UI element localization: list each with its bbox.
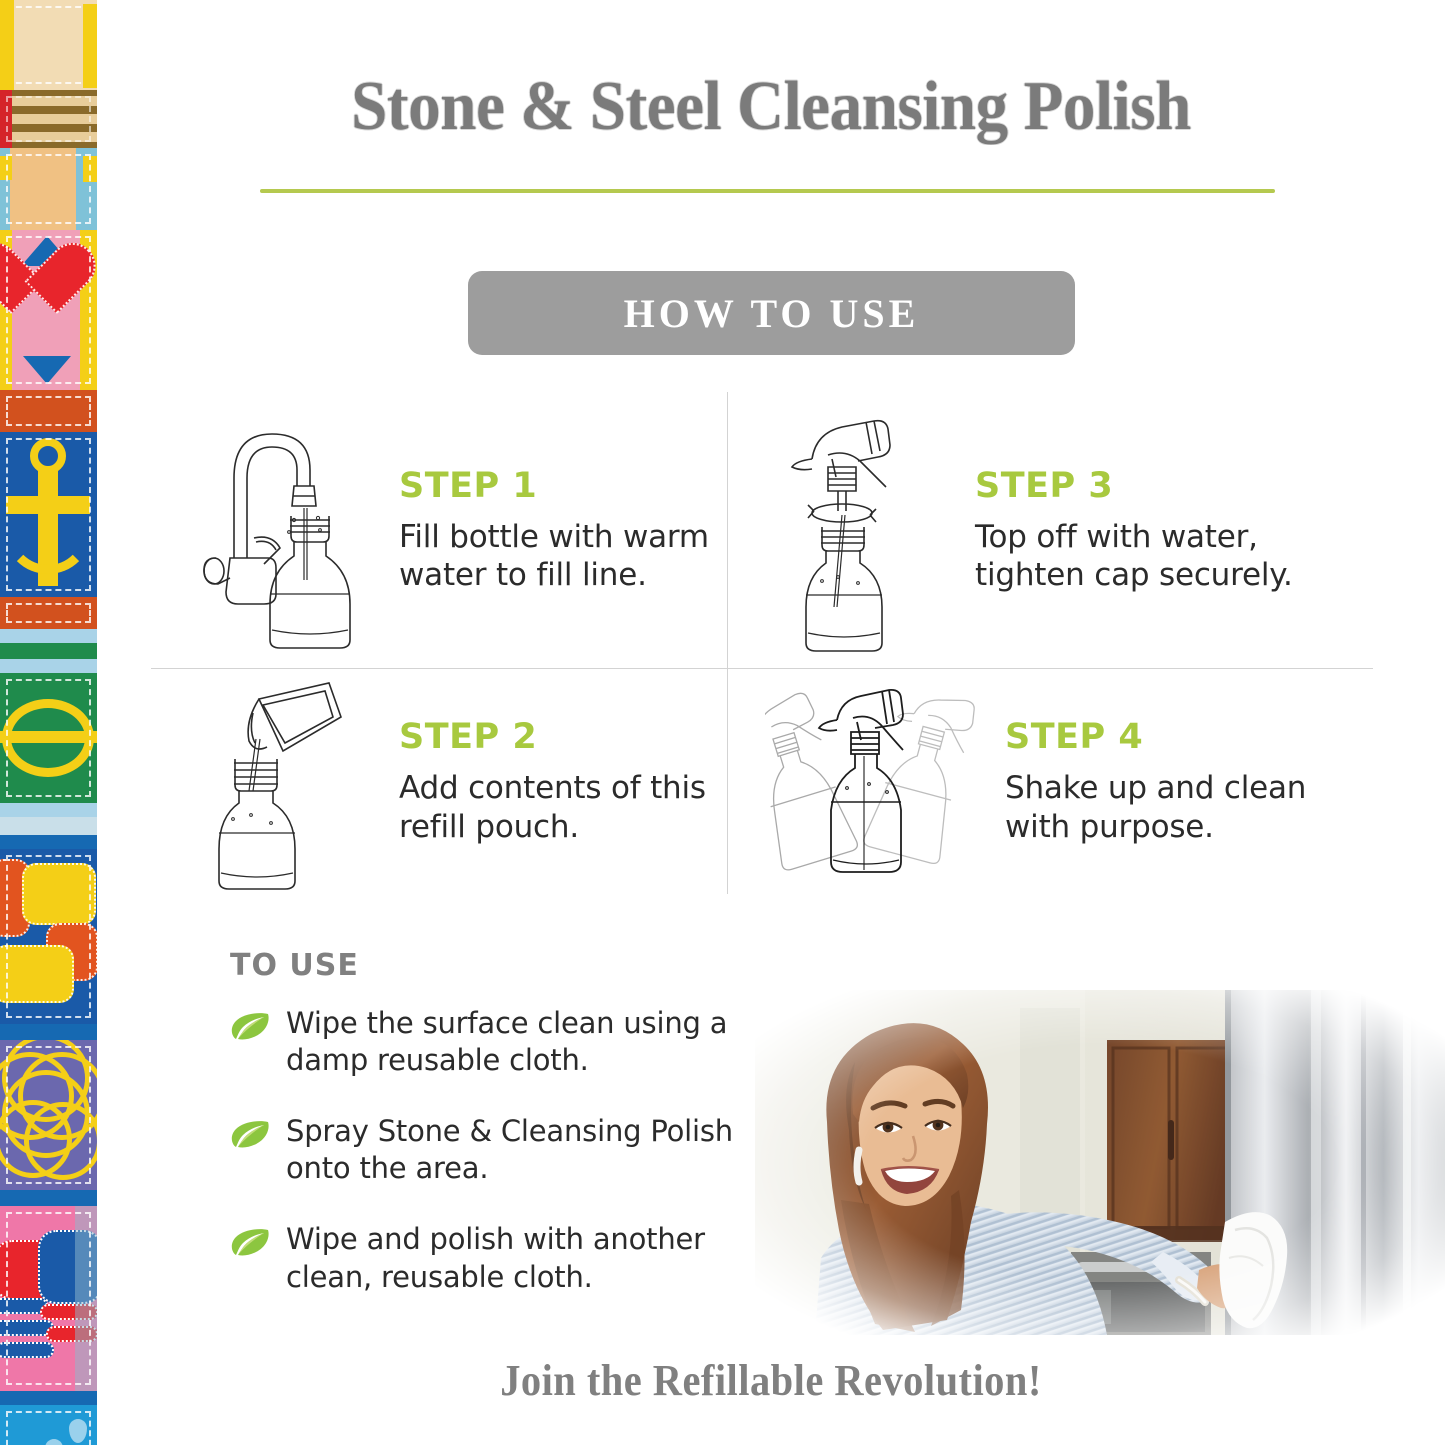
page-title: Stone & Steel Cleansing Polish (144, 72, 1398, 142)
list-item: Wipe the surface clean using a damp reus… (230, 1005, 790, 1079)
step-4-label: STEP 4 (1005, 717, 1373, 757)
list-item-text: Spray Stone & Cleansing Polish onto the … (286, 1113, 790, 1187)
quilt-block-spirograph (0, 1040, 97, 1190)
shaking-spray-bottle-icon (757, 684, 987, 879)
quilt-stripe-lightblue (0, 629, 97, 643)
step-2-description: Add contents of this refill pouch. (399, 769, 727, 846)
leaf-icon (230, 1011, 270, 1041)
step-2-label: STEP 2 (399, 717, 727, 757)
quilt-block-cream (0, 0, 97, 90)
step-2-text: STEP 2 Add contents of this refill pouch… (381, 717, 727, 846)
leaf-icon (230, 1227, 270, 1257)
quilt-stripe-blue-3 (0, 1190, 97, 1206)
quilt-block-stripes (0, 90, 97, 148)
pouch-pouring-into-bottle-icon (181, 673, 381, 891)
leaf-icon (230, 1119, 270, 1149)
quilt-stripe-blue-2 (0, 1024, 97, 1040)
faucet-filling-bottle-icon (181, 408, 381, 653)
infographic-page: Stone & Steel Cleansing Polish HOW TO US… (0, 0, 1445, 1445)
to-use-section: TO USE Wipe the surface clean using a da… (230, 948, 790, 1296)
quilt-block-droplets (0, 1405, 97, 1445)
decorative-quilt-border (0, 0, 97, 1445)
list-item: Wipe and polish with another clean, reus… (230, 1221, 790, 1295)
lifestyle-photo (755, 990, 1445, 1335)
quilt-block-orange-2 (0, 597, 97, 629)
step-1-text: STEP 1 Fill bottle with warm water to fi… (381, 466, 727, 595)
quilt-block-shapes (0, 849, 97, 1024)
step-card-2: STEP 2 Add contents of this refill pouch… (181, 669, 727, 894)
quilt-stripe-blue (0, 835, 97, 849)
how-to-use-label: HOW TO USE (624, 290, 920, 337)
quilt-stripe-pale (0, 817, 97, 835)
title-underline-rule (260, 189, 1275, 193)
step-card-4: STEP 4 Shake up and clean with purpose. (757, 669, 1373, 894)
list-item-text: Wipe the surface clean using a damp reus… (286, 1005, 790, 1079)
steps-grid: STEP 1 Fill bottle with warm water to fi… (151, 392, 1373, 894)
quilt-stripe-lightblue-3 (0, 803, 97, 817)
quilt-block-oval (0, 673, 97, 803)
step-card-3: STEP 3 Top off with water, tighten cap s… (757, 392, 1373, 668)
list-item-text: Wipe and polish with another clean, reus… (286, 1221, 790, 1295)
quilt-block-heart (0, 230, 97, 390)
quilt-stripe-green (0, 643, 97, 659)
spray-trigger-onto-bottle-icon (757, 405, 957, 655)
step-3-label: STEP 3 (975, 466, 1373, 506)
quilt-block-handshake (0, 1206, 97, 1391)
step-card-1: STEP 1 Fill bottle with warm water to fi… (181, 392, 727, 668)
quilt-stripe-lightblue-2 (0, 659, 97, 673)
grid-vertical-divider (727, 392, 728, 894)
to-use-heading: TO USE (230, 948, 790, 983)
step-1-description: Fill bottle with warm water to fill line… (399, 518, 727, 595)
step-3-description: Top off with water, tighten cap securely… (975, 518, 1373, 595)
step-1-label: STEP 1 (399, 466, 727, 506)
quilt-block-orange (0, 390, 97, 432)
quilt-block-tan-on-blue (0, 148, 97, 230)
main-content: Stone & Steel Cleansing Polish HOW TO US… (97, 0, 1445, 1445)
quilt-stripe-blue-4 (0, 1391, 97, 1405)
step-4-text: STEP 4 Shake up and clean with purpose. (987, 717, 1373, 846)
step-3-text: STEP 3 Top off with water, tighten cap s… (957, 466, 1373, 595)
quilt-block-anchor (0, 432, 97, 597)
list-item: Spray Stone & Cleansing Polish onto the … (230, 1113, 790, 1187)
footer-tagline: Join the Refillable Revolution! (151, 1355, 1391, 1406)
how-to-use-banner: HOW TO USE (468, 271, 1075, 355)
step-4-description: Shake up and clean with purpose. (1005, 769, 1373, 846)
